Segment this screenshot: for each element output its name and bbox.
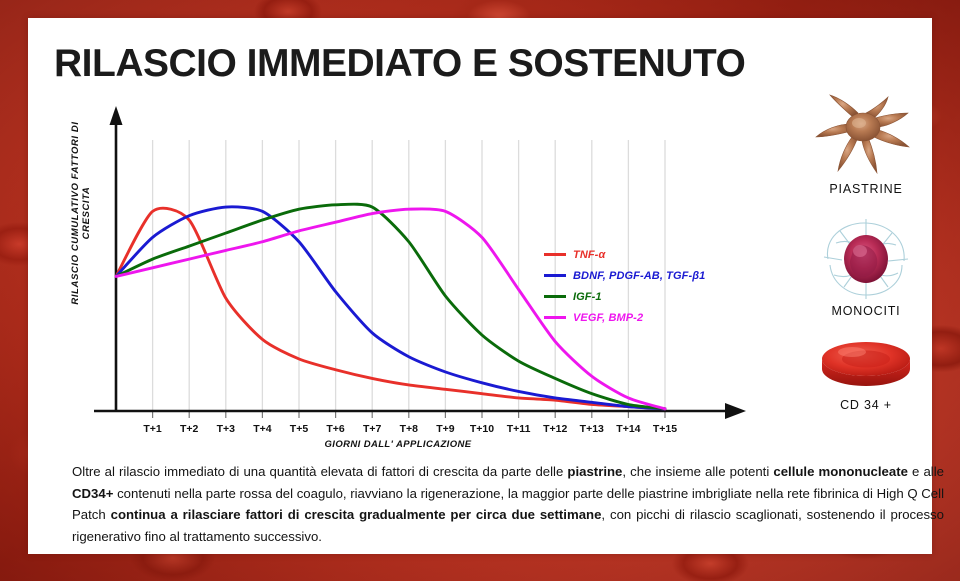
para-text-2: , che insieme alle potenti bbox=[622, 464, 773, 479]
legend-item: BDNF, PDGF-AB, TGF-β1 bbox=[544, 265, 705, 286]
white-content-card: RILASCIO IMMEDIATO E SOSTENUTO bbox=[28, 18, 932, 554]
legend-swatch bbox=[544, 274, 566, 277]
x-tick-label: T+12 bbox=[543, 423, 567, 435]
chart-x-tick-labels: T+1T+2T+3T+4T+5T+6T+7T+8T+9T+10T+11T+12T… bbox=[143, 423, 677, 435]
para-bold-rilascio: continua a rilasciare fattori di crescit… bbox=[111, 507, 602, 522]
legend-label: VEGF, BMP-2 bbox=[573, 312, 643, 324]
legend-label: BDNF, PDGF-AB, TGF-β1 bbox=[573, 270, 705, 282]
x-tick-label: T+11 bbox=[507, 423, 531, 435]
red-blood-cell-image bbox=[780, 334, 952, 396]
para-text-3: e alle bbox=[908, 464, 944, 479]
x-tick-label: T+6 bbox=[326, 423, 345, 435]
legend-swatch bbox=[544, 295, 566, 298]
monocyte-cell-image bbox=[780, 214, 952, 302]
para-bold-cd34: CD34+ bbox=[72, 486, 113, 501]
para-bold-cellule-mononucleate: cellule mononucleate bbox=[773, 464, 908, 479]
platelet-cell-image bbox=[780, 92, 952, 180]
platelet-icon bbox=[814, 93, 918, 179]
x-tick-label: T+14 bbox=[616, 423, 640, 435]
x-tick-label: T+4 bbox=[253, 423, 272, 435]
description-paragraph: Oltre al rilascio immediato di una quant… bbox=[72, 461, 944, 547]
x-tick-label: T+3 bbox=[217, 423, 236, 435]
y-axis bbox=[110, 106, 123, 411]
x-tick-label: T+15 bbox=[653, 423, 677, 435]
chart-legend: TNF-αBDNF, PDGF-AB, TGF-β1IGF-1VEGF, BMP… bbox=[544, 244, 705, 328]
x-tick-label: T+9 bbox=[436, 423, 455, 435]
x-tick-label: T+7 bbox=[363, 423, 382, 435]
legend-label: TNF-α bbox=[573, 249, 605, 261]
x-tick-label: T+2 bbox=[180, 423, 199, 435]
monocyte-icon bbox=[814, 213, 918, 303]
growth-factor-release-chart: T+1T+2T+3T+4T+5T+6T+7T+8T+9T+10T+11T+12T… bbox=[28, 84, 768, 459]
cell-block-cd34: CD 34 + bbox=[780, 334, 952, 412]
legend-swatch bbox=[544, 316, 566, 319]
para-text-1: Oltre al rilascio immediato di una quant… bbox=[72, 464, 567, 479]
page-title: RILASCIO IMMEDIATO E SOSTENUTO bbox=[54, 42, 745, 86]
legend-swatch bbox=[544, 253, 566, 256]
legend-label: IGF-1 bbox=[573, 291, 602, 303]
x-tick-label: T+8 bbox=[400, 423, 419, 435]
para-bold-piastrine: piastrine bbox=[567, 464, 622, 479]
red-blood-cell-icon bbox=[814, 335, 918, 395]
slide-root: RILASCIO IMMEDIATO E SOSTENUTO bbox=[0, 0, 960, 581]
cell-block-piastrine: PIASTRINE bbox=[780, 92, 952, 196]
x-axis-label: GIORNI DALL' APPLICAZIONE bbox=[118, 439, 678, 450]
x-tick-label: T+13 bbox=[580, 423, 604, 435]
x-tick-label: T+10 bbox=[470, 423, 494, 435]
legend-item: VEGF, BMP-2 bbox=[544, 307, 705, 328]
legend-item: IGF-1 bbox=[544, 286, 705, 307]
cell-caption-monociti: MONOCITI bbox=[780, 304, 952, 318]
cell-type-column: PIASTRINE bbox=[780, 92, 952, 418]
x-tick-label: T+1 bbox=[143, 423, 162, 435]
y-axis-label: RILASCIO CUMULATIVO FATTORI DI CRESCITA bbox=[70, 98, 92, 328]
cell-caption-piastrine: PIASTRINE bbox=[780, 182, 952, 196]
cell-block-monociti: MONOCITI bbox=[780, 214, 952, 318]
cell-caption-cd34: CD 34 + bbox=[780, 398, 952, 412]
legend-item: TNF-α bbox=[544, 244, 705, 265]
x-tick-label: T+5 bbox=[290, 423, 309, 435]
